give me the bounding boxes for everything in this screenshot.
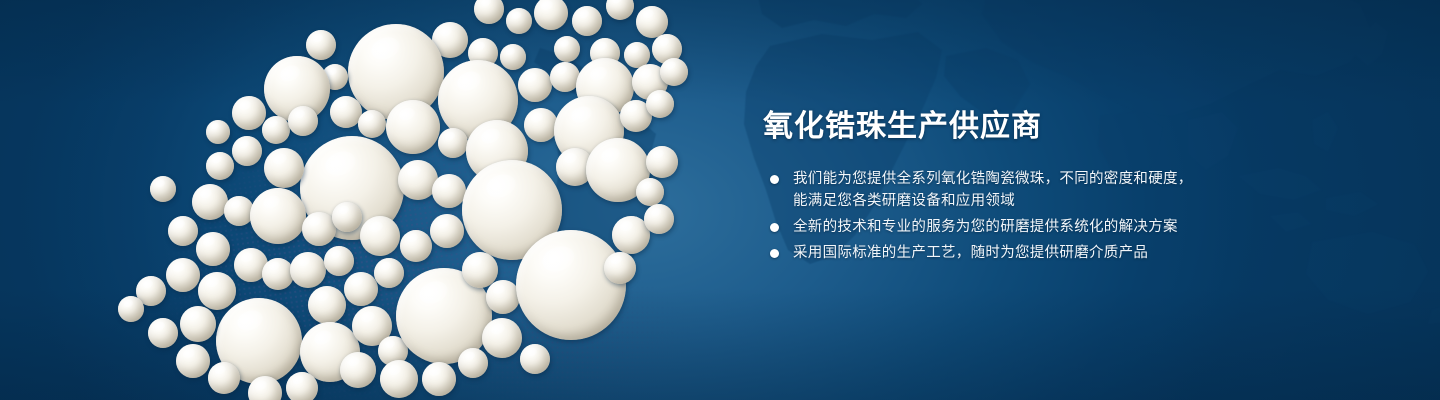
banner-bullet-list: 我们能为您提供全系列氧化锆陶瓷微珠，不同的密度和硬度， 能满足您各类研磨设备和应… [763,168,1323,264]
bullet-dot-icon [770,249,779,258]
zirconia-beads-photo [0,0,730,400]
hero-banner: 氧化锆珠生产供应商 我们能为您提供全系列氧化锆陶瓷微珠，不同的密度和硬度， 能满… [0,0,1440,400]
bullet-line-1: 我们能为您提供全系列氧化锆陶瓷微珠，不同的密度和硬度， [793,171,1193,187]
banner-headline: 氧化锆珠生产供应商 [763,108,1323,146]
banner-bullet-item: 全新的技术和专业的服务为您的研磨提供系统化的解决方案 [763,216,1323,238]
banner-bullet-item: 我们能为您提供全系列氧化锆陶瓷微珠，不同的密度和硬度， 能满足您各类研磨设备和应… [763,168,1323,212]
banner-text-block: 氧化锆珠生产供应商 我们能为您提供全系列氧化锆陶瓷微珠，不同的密度和硬度， 能满… [763,108,1323,268]
bullet-dot-icon [770,223,779,232]
bullet-line-1: 采用国际标准的生产工艺，随时为您提供研磨介质产品 [793,245,1148,261]
bullet-dot-icon [770,175,779,184]
bullet-line-1: 全新的技术和专业的服务为您的研磨提供系统化的解决方案 [793,219,1178,235]
banner-bullet-item: 采用国际标准的生产工艺，随时为您提供研磨介质产品 [763,242,1323,264]
bullet-line-2: 能满足您各类研磨设备和应用领域 [793,190,1323,212]
